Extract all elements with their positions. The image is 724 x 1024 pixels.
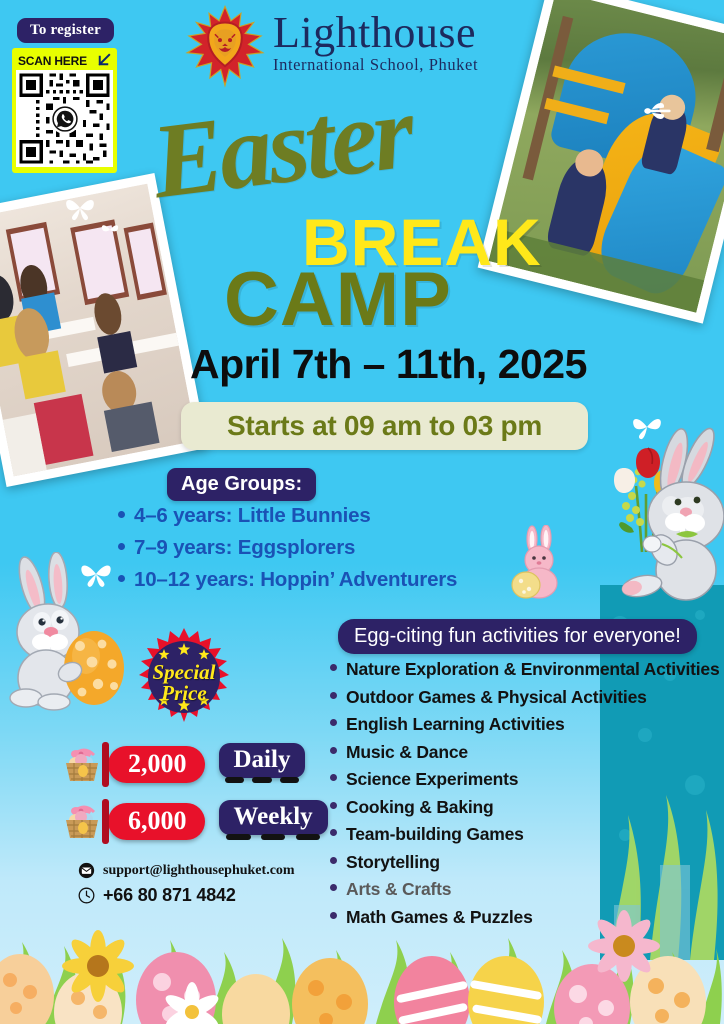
period-daily: Daily xyxy=(219,746,306,783)
price-amount-weekly: 6,000 xyxy=(108,803,205,840)
contact-email-row[interactable]: support@lighthousephuket.com xyxy=(78,862,295,879)
easter-basket-icon xyxy=(62,800,106,842)
logo-subtitle: International School, Phuket xyxy=(273,55,478,75)
period-label-weekly: Weekly xyxy=(219,800,328,835)
to-register-pill: To register xyxy=(17,18,114,43)
special-price-line2: Price xyxy=(161,683,206,704)
period-underline xyxy=(225,777,300,783)
price-row-daily: 2,000 Daily xyxy=(62,743,305,785)
bullet-icon xyxy=(330,774,337,781)
list-item: Cooking & Baking xyxy=(330,797,720,818)
bullet-icon xyxy=(330,719,337,726)
qr-header: SCAN HERE xyxy=(16,51,113,70)
bunny-with-tulips-icon xyxy=(602,418,724,604)
school-logo: Lighthouse International School, Phuket xyxy=(183,4,478,88)
age-group-label: 7–9 years: Eggsplorers xyxy=(134,536,355,560)
list-item: Team-building Games xyxy=(330,824,720,845)
period-label-daily: Daily xyxy=(219,743,306,778)
bullet-icon xyxy=(330,857,337,864)
list-item: Science Experiments xyxy=(330,769,720,790)
activity-label: Storytelling xyxy=(346,852,440,873)
special-price-line1: Special xyxy=(153,662,216,683)
pink-bunny-icon xyxy=(508,525,570,599)
price-row-weekly: 6,000 Weekly xyxy=(62,800,328,842)
easter-basket-icon xyxy=(62,743,106,785)
list-item: English Learning Activities xyxy=(330,714,720,735)
special-price-badge: Special Price xyxy=(128,627,240,739)
classroom-photo xyxy=(0,173,208,487)
activities-badge: Egg-citing fun activities for everyone! xyxy=(338,619,697,654)
qr-code-block[interactable]: SCAN HERE xyxy=(12,48,117,173)
list-item: Storytelling xyxy=(330,852,720,873)
bullet-icon xyxy=(118,543,125,550)
bullet-icon xyxy=(330,829,337,836)
age-groups-list: 4–6 years: Little Bunnies 7–9 years: Egg… xyxy=(118,504,457,600)
bullet-icon xyxy=(330,747,337,754)
arrow-down-left-icon xyxy=(96,53,111,68)
activity-label: Cooking & Baking xyxy=(346,797,494,818)
logo-wordmark: Lighthouse International School, Phuket xyxy=(273,4,478,75)
list-item: Outdoor Games & Physical Activities xyxy=(330,687,720,708)
bullet-icon xyxy=(330,692,337,699)
special-price-text: Special Price xyxy=(128,627,240,739)
list-item: Nature Exploration & Environmental Activ… xyxy=(330,659,720,680)
camp-hours-banner: Starts at 09 am to 03 pm xyxy=(181,402,588,450)
activity-label: Outdoor Games & Physical Activities xyxy=(346,687,647,708)
qr-code-image[interactable] xyxy=(16,70,113,167)
activity-label: Team-building Games xyxy=(346,824,524,845)
envelope-icon xyxy=(78,862,95,879)
age-groups-badge: Age Groups: xyxy=(167,468,316,501)
activity-label: English Learning Activities xyxy=(346,714,565,735)
whatsapp-icon xyxy=(50,104,80,134)
activity-label: Science Experiments xyxy=(346,769,518,790)
bullet-icon xyxy=(330,664,337,671)
age-group-label: 10–12 years: Hoppin’ Adventurers xyxy=(134,568,457,592)
period-weekly: Weekly xyxy=(219,803,328,840)
activity-label: Nature Exploration & Environmental Activ… xyxy=(346,659,720,680)
contact-email-text: support@lighthousephuket.com xyxy=(103,863,295,879)
age-group-label: 4–6 years: Little Bunnies xyxy=(134,504,371,528)
butterfly-icon xyxy=(63,195,97,221)
easter-break-camp-poster: To register SCAN HERE xyxy=(0,0,724,1024)
price-amount-daily: 2,000 xyxy=(108,746,205,783)
bullet-icon xyxy=(330,802,337,809)
bullet-icon xyxy=(118,511,125,518)
camp-dates: April 7th – 11th, 2025 xyxy=(190,344,587,385)
period-underline xyxy=(226,834,320,840)
list-item: 7–9 years: Eggsplorers xyxy=(118,536,457,560)
camp-heading: CAMP xyxy=(224,262,452,338)
list-item: 4–6 years: Little Bunnies xyxy=(118,504,457,528)
list-item: 10–12 years: Hoppin’ Adventurers xyxy=(118,568,457,592)
list-item: Music & Dance xyxy=(330,742,720,763)
butterfly-icon xyxy=(100,222,120,238)
easter-eggs-grass-border-icon xyxy=(0,884,724,1024)
lion-maple-leaf-crest-icon xyxy=(183,4,267,88)
easter-script-heading: Easter xyxy=(147,79,417,216)
scan-here-label: SCAN HERE xyxy=(18,54,87,68)
dragonfly-icon xyxy=(640,98,674,124)
activity-label: Music & Dance xyxy=(346,742,468,763)
camp-hours-text: Starts at 09 am to 03 pm xyxy=(227,410,542,442)
bunny-with-orange-egg-icon xyxy=(2,552,132,712)
logo-title: Lighthouse xyxy=(273,12,478,54)
